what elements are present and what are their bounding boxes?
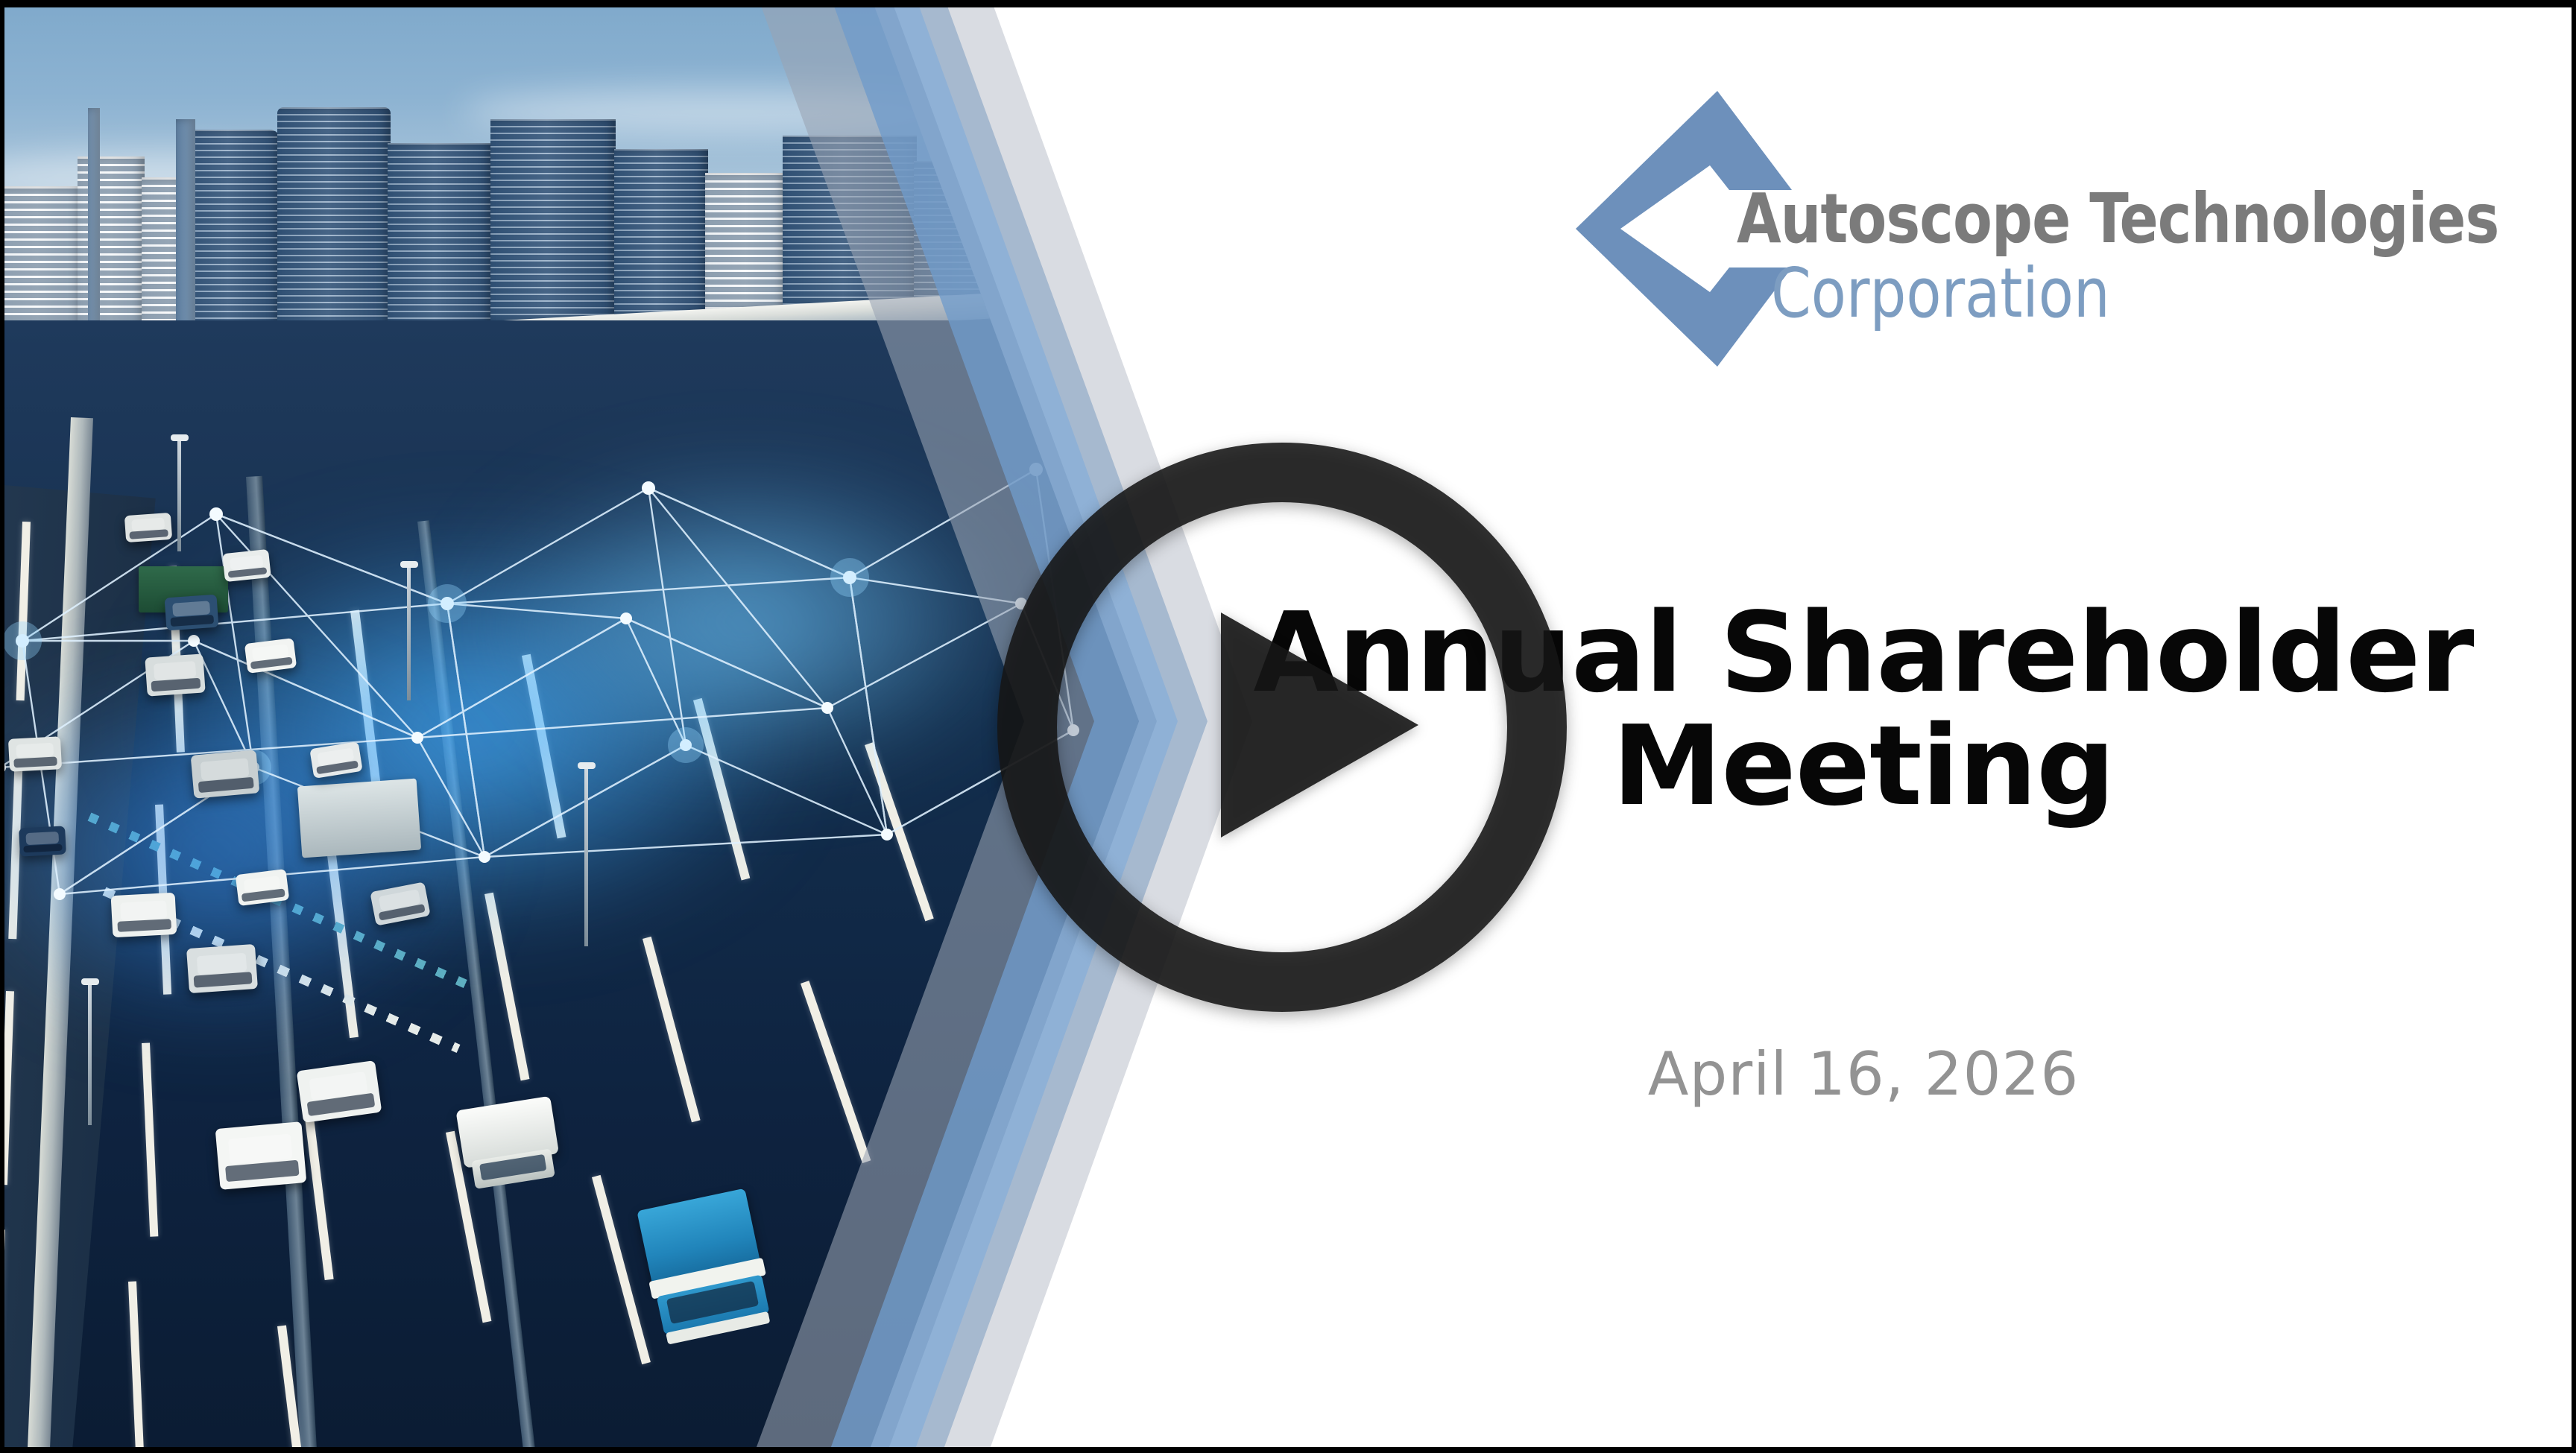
letterbox-right xyxy=(2572,0,2576,1453)
meeting-date: April 16, 2026 xyxy=(1222,1039,2504,1109)
brand-name-line-1: Autoscope Technologies xyxy=(1737,185,2437,253)
vehicle xyxy=(8,736,62,772)
vehicle xyxy=(236,869,290,906)
light-pole xyxy=(584,767,588,946)
vehicle xyxy=(165,595,219,631)
play-button[interactable] xyxy=(997,443,1567,1012)
white-van xyxy=(455,1096,563,1200)
vehicle xyxy=(222,549,271,582)
vehicle xyxy=(244,638,297,674)
vehicle xyxy=(297,1060,382,1123)
letterbox-bottom xyxy=(0,1447,2576,1453)
brand-name-line-2: Corporation xyxy=(1771,259,2440,328)
vehicle xyxy=(124,513,172,542)
brand-wordmark: Autoscope Technologies Corporation xyxy=(1737,72,2490,328)
brand-logo-lockup: Autoscope Technologies Corporation xyxy=(1571,72,2488,370)
vehicle xyxy=(191,750,260,798)
light-pole xyxy=(407,566,411,700)
letterbox-top xyxy=(0,0,2576,7)
overhead-sign-panel xyxy=(297,779,421,858)
vehicle xyxy=(215,1121,307,1190)
video-player-frame[interactable]: Autoscope Technologies Corporation Annua… xyxy=(0,0,2576,1453)
network-glow xyxy=(462,462,1029,782)
vehicle xyxy=(19,826,66,856)
play-icon xyxy=(1221,612,1418,838)
vehicle xyxy=(145,653,205,696)
vehicle xyxy=(186,944,258,993)
letterbox-left xyxy=(0,0,4,1453)
light-pole xyxy=(177,440,181,551)
vehicle xyxy=(111,893,177,937)
light-pole xyxy=(88,984,92,1125)
